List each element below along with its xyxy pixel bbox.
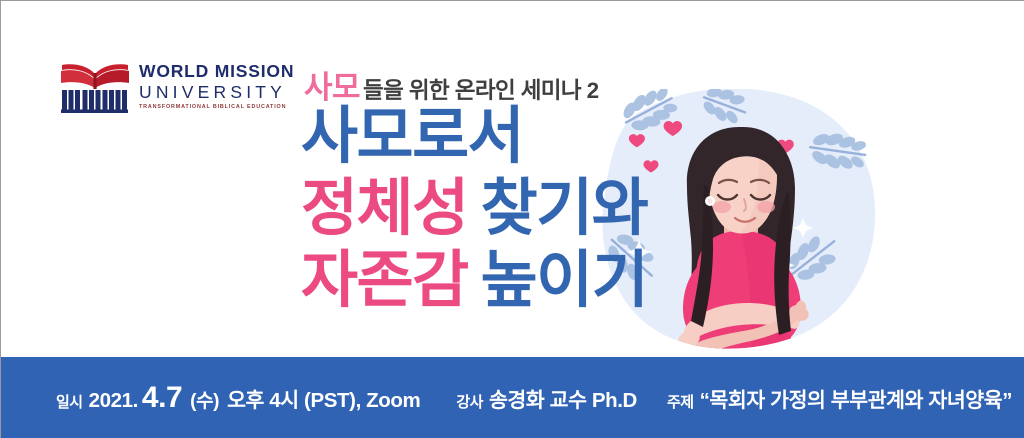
open-book-icon <box>61 64 129 89</box>
headline-line-2: 정체성찾기와 <box>301 173 721 245</box>
seminar-subtitle: 사모 들을 위한 온라인 세미나 2 <box>304 62 599 100</box>
date-time-platform: 오후 4시 (PST), Zoom <box>227 383 420 413</box>
seminar-banner: WORLD MISSION UNIVERSITY TRANSFORMATIONA… <box>0 0 1024 438</box>
wmu-bookshelf-icon <box>61 90 128 113</box>
headline-line3-blue: 높이기 <box>481 246 648 315</box>
event-date-group: 일시 2021. 4.7 (수) 오후 4시 (PST), Zoom <box>56 381 420 415</box>
headline-line1-text: 사모로서 <box>301 102 523 171</box>
event-info-bar: 일시 2021. 4.7 (수) 오후 4시 (PST), Zoom 강사 송경… <box>1 357 1024 438</box>
logo-line-world-mission: WORLD MISSION <box>139 63 294 81</box>
headline-line-1: 사모로서 <box>301 101 721 173</box>
headline-line2-pink: 정체성 <box>301 174 468 243</box>
date-day: 4.7 <box>142 381 182 415</box>
topic-label: 주제 <box>667 391 694 412</box>
date-year: 2021. <box>89 389 138 413</box>
logo-tagline: TRANSFORMATIONAL BIBLICAL EDUCATION <box>139 105 294 110</box>
wmu-logo: WORLD MISSION UNIVERSITY TRANSFORMATIONA… <box>59 59 309 115</box>
wmu-logo-wordmark: WORLD MISSION UNIVERSITY TRANSFORMATIONA… <box>139 63 294 110</box>
seminar-headline: 사모로서 정체성찾기와 자존감높이기 <box>301 101 721 317</box>
speaker-name: 송경화 교수 Ph.D <box>489 383 637 413</box>
headline-line-3: 자존감높이기 <box>301 245 721 317</box>
logo-line-university: UNIVERSITY <box>139 84 294 102</box>
date-label: 일시 <box>56 391 83 412</box>
headline-line2-blue: 찾기와 <box>481 174 648 243</box>
wmu-logo-mark-icon <box>59 61 131 113</box>
headline-line3-pink: 자존감 <box>301 246 468 315</box>
topic-title: “목회자 가정의 부부관계와 자녀양육” <box>700 383 1013 413</box>
event-speaker-group: 강사 송경화 교수 Ph.D <box>456 383 637 413</box>
date-weekday: (수) <box>190 386 219 413</box>
speaker-label: 강사 <box>456 391 483 412</box>
event-topic-group: 주제 “목회자 가정의 부부관계와 자녀양육” <box>667 383 1012 413</box>
